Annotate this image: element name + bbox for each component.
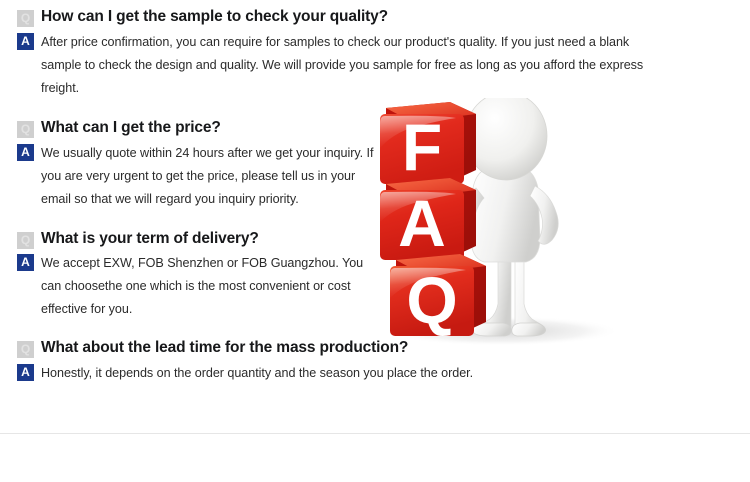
question-badge-icon: Q <box>17 232 34 249</box>
answer-badge-icon: A <box>17 364 34 381</box>
question-badge-icon: Q <box>17 341 34 358</box>
answer-badge-icon: A <box>17 254 34 271</box>
faq-item-2: Q What can I get the price? A We usually… <box>0 118 750 211</box>
faq-question-row-3[interactable]: Q What is your term of delivery? <box>0 229 750 249</box>
faq-question-row-2[interactable]: Q What can I get the price? <box>0 118 750 138</box>
faq-item-4: Q What about the lead time for the mass … <box>0 338 750 385</box>
faq-list: Q How can I get the sample to check your… <box>0 0 750 385</box>
faq-item-3: Q What is your term of delivery? A We ac… <box>0 229 750 321</box>
faq-answer-text-3: We accept EXW, FOB Shenzhen or FOB Guang… <box>41 252 381 321</box>
faq-answer-row-2: A We usually quote within 24 hours after… <box>0 142 750 211</box>
faq-item-1: Q How can I get the sample to check your… <box>0 7 750 100</box>
faq-page: F A Q Q How ca <box>0 0 750 482</box>
answer-badge-icon: A <box>17 144 34 161</box>
faq-answer-row-1: A After price confirmation, you can requ… <box>0 31 750 100</box>
faq-question-text-4: What about the lead time for the mass pr… <box>41 338 661 358</box>
faq-question-row-4[interactable]: Q What about the lead time for the mass … <box>0 338 750 358</box>
faq-answer-text-1: After price confirmation, you can requir… <box>41 31 661 100</box>
question-badge-icon: Q <box>17 121 34 138</box>
faq-answer-text-2: We usually quote within 24 hours after w… <box>41 142 381 211</box>
faq-question-text-2: What can I get the price? <box>41 118 661 138</box>
faq-answer-text-4: Honestly, it depends on the order quanti… <box>41 362 661 385</box>
question-badge-icon: Q <box>17 10 34 27</box>
section-divider <box>0 433 750 434</box>
faq-answer-row-3: A We accept EXW, FOB Shenzhen or FOB Gua… <box>0 252 750 321</box>
faq-question-text-1: How can I get the sample to check your q… <box>41 7 661 27</box>
faq-question-text-3: What is your term of delivery? <box>41 229 661 249</box>
answer-badge-icon: A <box>17 33 34 50</box>
faq-answer-row-4: A Honestly, it depends on the order quan… <box>0 362 750 385</box>
faq-question-row-1[interactable]: Q How can I get the sample to check your… <box>0 7 750 27</box>
